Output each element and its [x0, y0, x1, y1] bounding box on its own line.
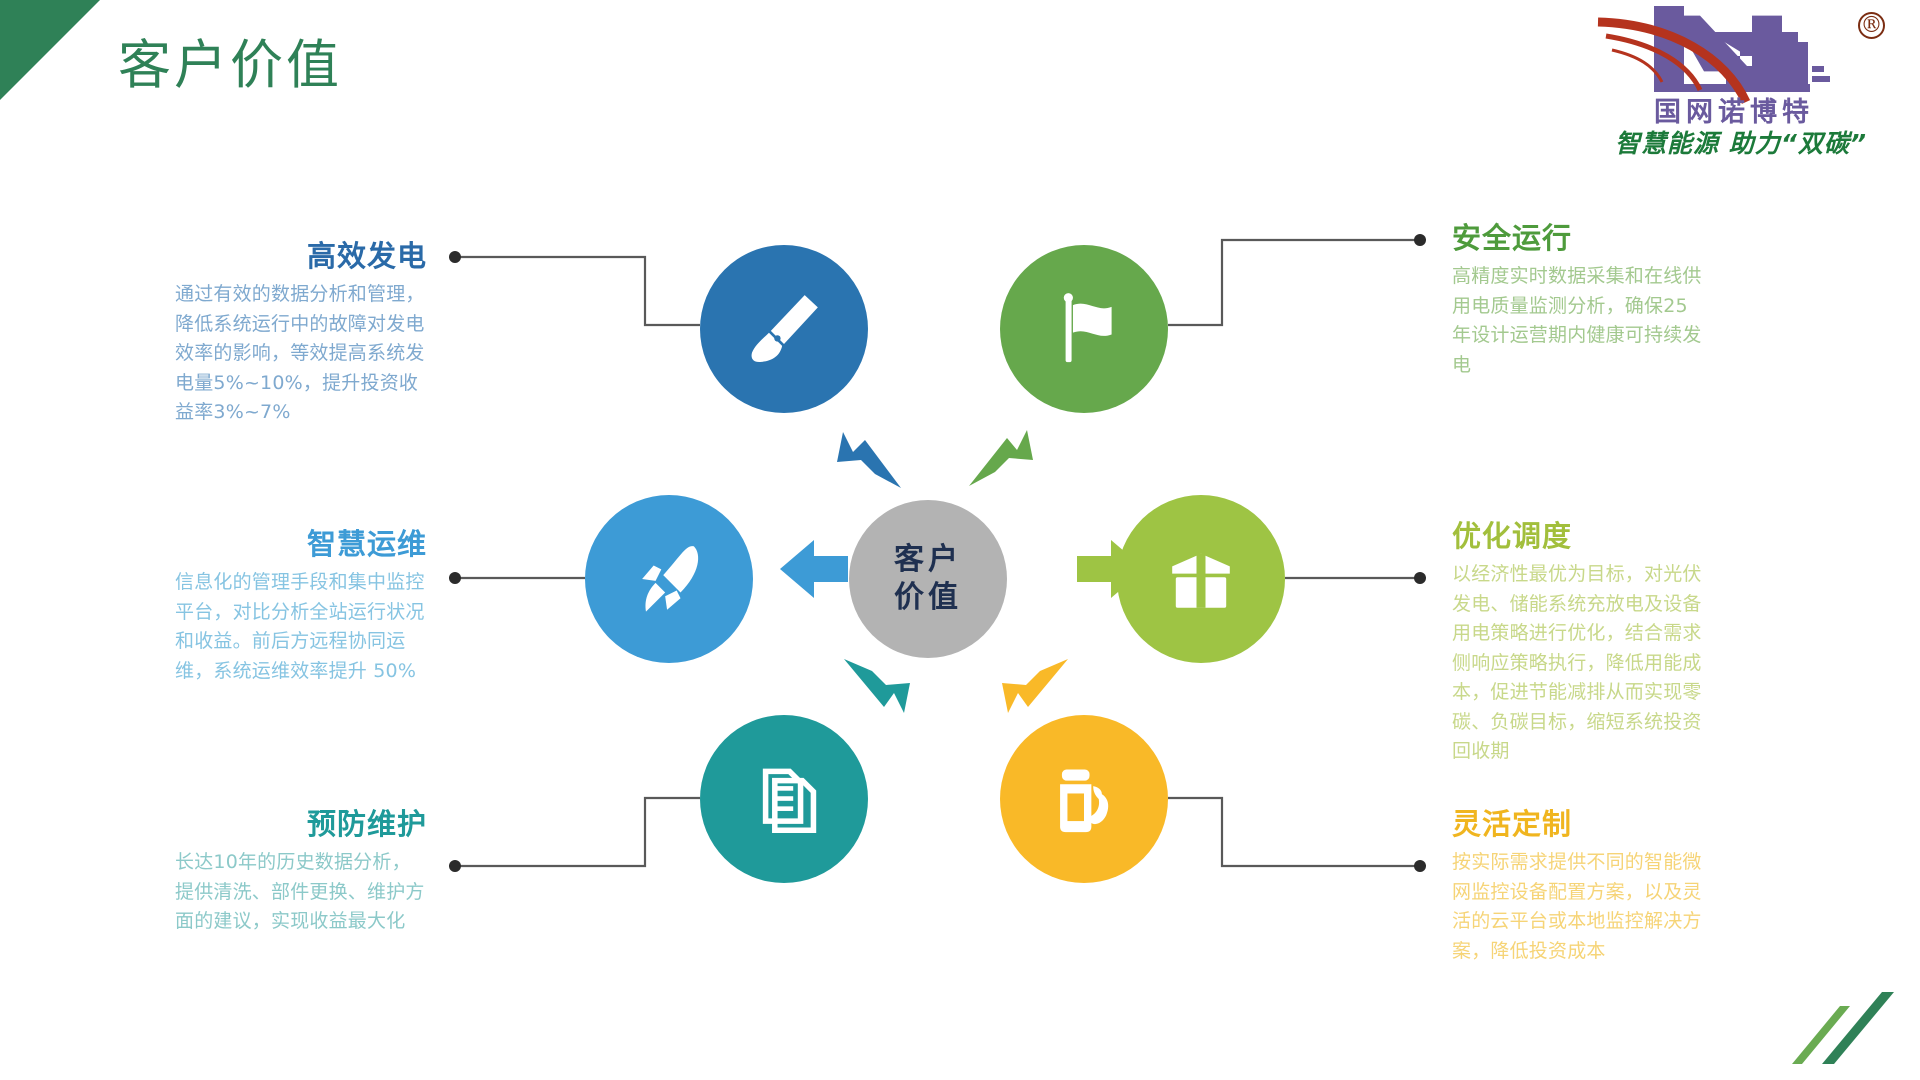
node-brush[interactable]	[700, 245, 868, 413]
arrow-to-bottle	[1000, 655, 1072, 722]
block-left-2-heading: 预防维护	[175, 808, 427, 841]
block-right-0-body: 高精度实时数据采集和在线供用电质量监测分析，确保25年设计运营期内健康可持续发电	[1452, 262, 1704, 380]
slide-canvas: 客户价值	[0, 0, 1920, 1080]
rocket-icon	[621, 531, 717, 627]
block-left-0-body: 通过有效的数据分析和管理，降低系统运行中的故障对发电效率的影响，等效提高系统发电…	[175, 280, 427, 427]
block-right-0-heading: 安全运行	[1452, 222, 1704, 255]
block-left-2-body: 长达10年的历史数据分析，提供清洗、部件更换、维护方面的建议，实现收益最大化	[175, 848, 427, 936]
block-right-0: 安全运行 高精度实时数据采集和在线供用电质量监测分析，确保25年设计运营期内健康…	[1452, 222, 1704, 380]
flag-icon	[1038, 283, 1130, 375]
arrow-to-docs	[840, 655, 912, 722]
block-right-2: 灵活定制 按实际需求提供不同的智能微网监控设备配置方案，以及灵活的云平台或本地监…	[1452, 808, 1704, 966]
arrow-from-flag	[965, 428, 1035, 495]
block-right-1-body: 以经济性最优为目标，对光伏发电、储能系统充放电及设备用电策略进行优化，结合需求侧…	[1452, 560, 1704, 766]
center-label-line1: 客户	[894, 541, 962, 579]
block-left-0: 高效发电 通过有效的数据分析和管理，降低系统运行中的故障对发电效率的影响，等效提…	[175, 240, 427, 428]
block-left-1: 智慧运维 信息化的管理手段和集中监控平台，对比分析全站运行状况和收益。前后方远程…	[175, 528, 427, 686]
node-gift[interactable]	[1117, 495, 1285, 663]
node-docs[interactable]	[700, 715, 868, 883]
bottle-leaf-icon	[1038, 753, 1130, 845]
block-left-1-heading: 智慧运维	[175, 528, 427, 561]
block-right-2-heading: 灵活定制	[1452, 808, 1704, 841]
block-left-1-body: 信息化的管理手段和集中监控平台，对比分析全站运行状况和收益。前后方远程协同运维，…	[175, 568, 427, 686]
block-left-0-heading: 高效发电	[175, 240, 427, 273]
center-label-line2: 价值	[894, 579, 962, 617]
documents-icon	[738, 753, 830, 845]
arrow-to-rocket	[778, 538, 850, 605]
block-right-1: 优化调度 以经济性最优为目标，对光伏发电、储能系统充放电及设备用电策略进行优化，…	[1452, 520, 1704, 766]
center-node: 客户 价值	[849, 500, 1007, 658]
block-right-1-heading: 优化调度	[1452, 520, 1704, 553]
arrow-from-brush	[835, 430, 905, 497]
node-bottle[interactable]	[1000, 715, 1168, 883]
node-flag[interactable]	[1000, 245, 1168, 413]
block-right-2-body: 按实际需求提供不同的智能微网监控设备配置方案，以及灵活的云平台或本地监控解决方案…	[1452, 848, 1704, 966]
gift-box-icon	[1156, 534, 1246, 624]
block-left-2: 预防维护 长达10年的历史数据分析，提供清洗、部件更换、维护方面的建议，实现收益…	[175, 808, 427, 937]
node-rocket[interactable]	[585, 495, 753, 663]
brush-icon	[737, 282, 831, 376]
